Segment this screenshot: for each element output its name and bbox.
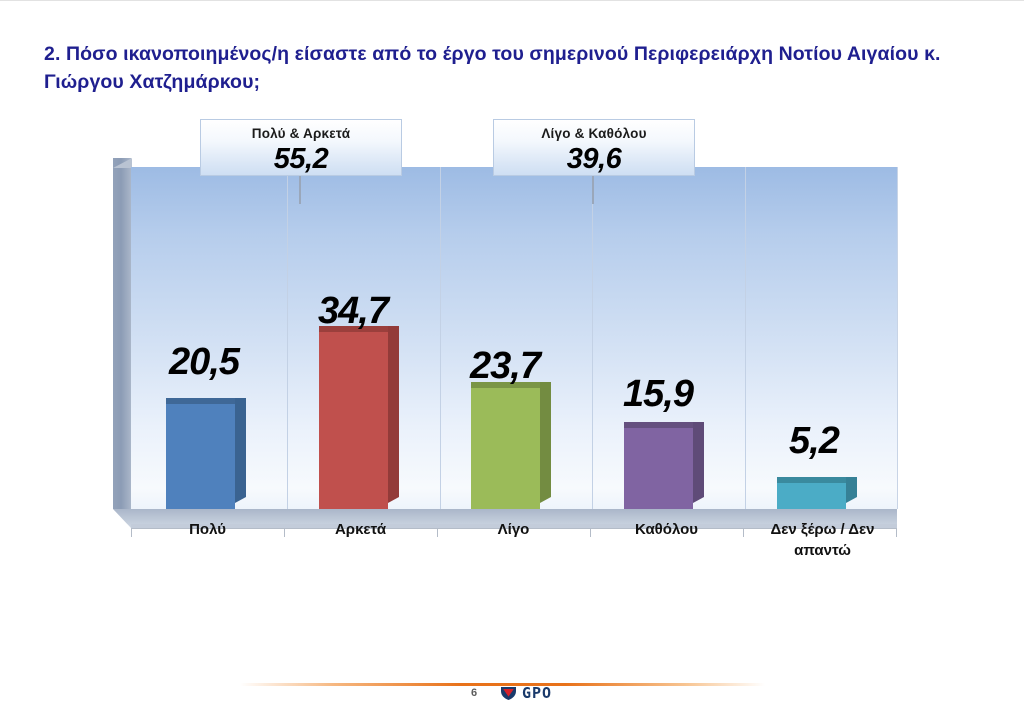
axis-tick	[743, 528, 744, 537]
bar-arketa[interactable]	[319, 332, 388, 509]
bar-front-face	[319, 332, 388, 509]
chart-separator	[592, 167, 593, 509]
bar-front-face	[166, 404, 235, 509]
bar-side-face	[540, 382, 551, 503]
page-title: 2. Πόσο ικανοποιημένος/η είσαστε από το …	[44, 40, 964, 96]
bar-chart: 20,5 34,7 23,7 15,9 5,2 Πολύ & Αρκ	[0, 110, 1024, 570]
bar-front-face	[471, 388, 540, 509]
callout-ligo-katholou: Λίγο & Καθόλου 39,6	[493, 119, 695, 176]
bar-katholou[interactable]	[624, 428, 693, 509]
gpo-heart-icon	[500, 685, 517, 701]
gpo-wordmark: GPO	[522, 684, 552, 702]
category-label-arketa: Αρκετά	[284, 519, 437, 540]
top-divider	[0, 0, 1024, 1]
callout-poly-arketa: Πολύ & Αρκετά 55,2	[200, 119, 402, 176]
page-number: 6	[471, 687, 477, 699]
category-label-poly: Πολύ	[131, 519, 284, 540]
chart-separator	[287, 167, 288, 509]
callout-value: 55,2	[201, 143, 401, 176]
gpo-logo: GPO	[500, 684, 552, 702]
callout-connector	[299, 172, 301, 204]
callout-value: 39,6	[494, 143, 694, 176]
category-label-den-xero: Δεν ξέρω / Δεν απαντώ	[745, 519, 900, 561]
chart-left-wall	[113, 158, 131, 509]
bar-value-den-xero: 5,2	[789, 420, 839, 463]
chart-separator	[440, 167, 441, 509]
bar-side-face	[235, 398, 246, 503]
bar-side-face	[388, 326, 399, 503]
category-label-katholou: Καθόλου	[590, 519, 743, 540]
bar-poly[interactable]	[166, 404, 235, 509]
bar-value-ligo: 23,7	[470, 345, 540, 388]
category-label-ligo: Λίγο	[437, 519, 590, 540]
bar-value-arketa: 34,7	[318, 290, 388, 333]
bar-ligo[interactable]	[471, 388, 540, 509]
bar-front-face	[777, 483, 846, 509]
callout-label: Πολύ & Αρκετά	[201, 126, 401, 141]
bar-value-poly: 20,5	[169, 341, 239, 384]
bar-den-xero[interactable]	[777, 483, 846, 509]
chart-separator	[745, 167, 746, 509]
callout-label: Λίγο & Καθόλου	[494, 126, 694, 141]
bar-side-face	[693, 422, 704, 503]
bar-value-katholou: 15,9	[623, 373, 693, 416]
slide-canvas: 2. Πόσο ικανοποιημένος/η είσαστε από το …	[0, 0, 1024, 713]
bar-front-face	[624, 428, 693, 509]
callout-connector	[592, 172, 594, 204]
